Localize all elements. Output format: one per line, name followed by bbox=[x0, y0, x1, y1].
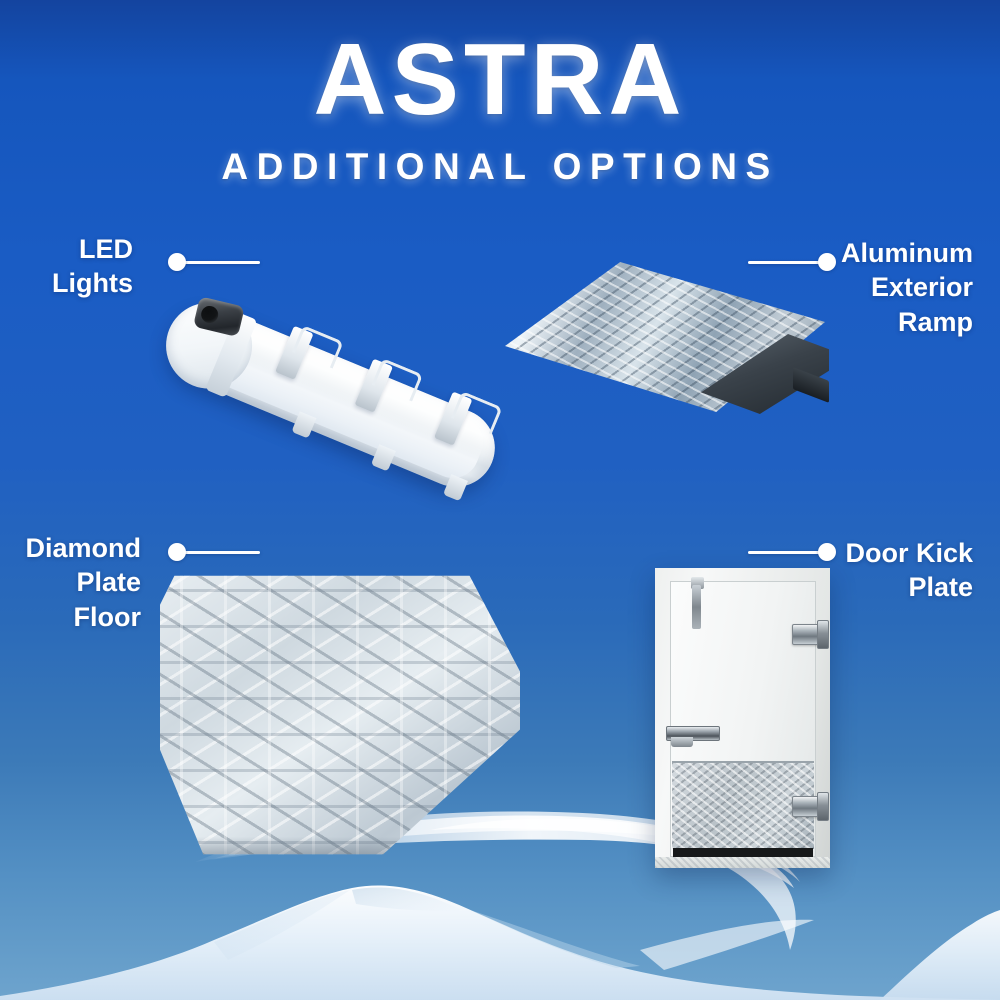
led-fixture-body-group bbox=[158, 295, 507, 499]
callout-line: Exterior bbox=[703, 270, 973, 304]
connector-dot bbox=[168, 253, 186, 271]
callout-label-aluminum-exterior-ramp: Aluminum Exterior Ramp bbox=[703, 236, 973, 339]
callout-line: Plate bbox=[723, 570, 973, 604]
poster-header: ASTRA ADDITIONAL OPTIONS bbox=[0, 0, 1000, 185]
connector-dot bbox=[818, 253, 836, 271]
connector-line bbox=[177, 551, 260, 554]
page-title: ASTRA bbox=[0, 0, 1000, 131]
callout-line: Diamond bbox=[0, 531, 141, 565]
callout-label-diamond-plate-floor: Diamond Plate Floor bbox=[0, 531, 141, 634]
callout-line: Lights bbox=[0, 266, 133, 300]
callout-connector-led-lights bbox=[168, 253, 260, 271]
callout-line: Plate bbox=[0, 565, 141, 599]
door-frame bbox=[655, 568, 830, 868]
connector-line bbox=[177, 261, 260, 264]
door-threshold-sweep bbox=[673, 848, 813, 857]
product-image-door-kick-plate bbox=[655, 568, 830, 868]
door-hinge-pin-bottom bbox=[817, 792, 829, 821]
callout-line: LED bbox=[0, 232, 133, 266]
callout-label-led-lights: LED Lights bbox=[0, 232, 133, 301]
callout-line: Floor bbox=[0, 600, 141, 634]
connector-line bbox=[748, 261, 827, 264]
connector-dot bbox=[818, 543, 836, 561]
callout-connector-door-kick-plate bbox=[748, 543, 836, 561]
callout-connector-aluminum-exterior-ramp bbox=[748, 253, 836, 271]
diamond-plate-edge bbox=[160, 570, 520, 860]
callout-line: Aluminum bbox=[703, 236, 973, 270]
callout-connector-diamond-plate-floor bbox=[168, 543, 260, 561]
door-latch-rod bbox=[692, 585, 701, 629]
connector-dot bbox=[168, 543, 186, 561]
callout-line: Ramp bbox=[703, 305, 973, 339]
door-floor-strip bbox=[655, 857, 830, 868]
connector-line bbox=[748, 551, 827, 554]
page-subtitle: ADDITIONAL OPTIONS bbox=[0, 131, 1000, 185]
door-hinge-pin-top bbox=[817, 620, 829, 649]
product-image-led-light-fixture bbox=[150, 255, 530, 445]
door-handle bbox=[666, 726, 720, 741]
product-image-diamond-plate-floor bbox=[160, 570, 520, 860]
poster-canvas: ASTRA ADDITIONAL OPTIONS bbox=[0, 0, 1000, 1000]
